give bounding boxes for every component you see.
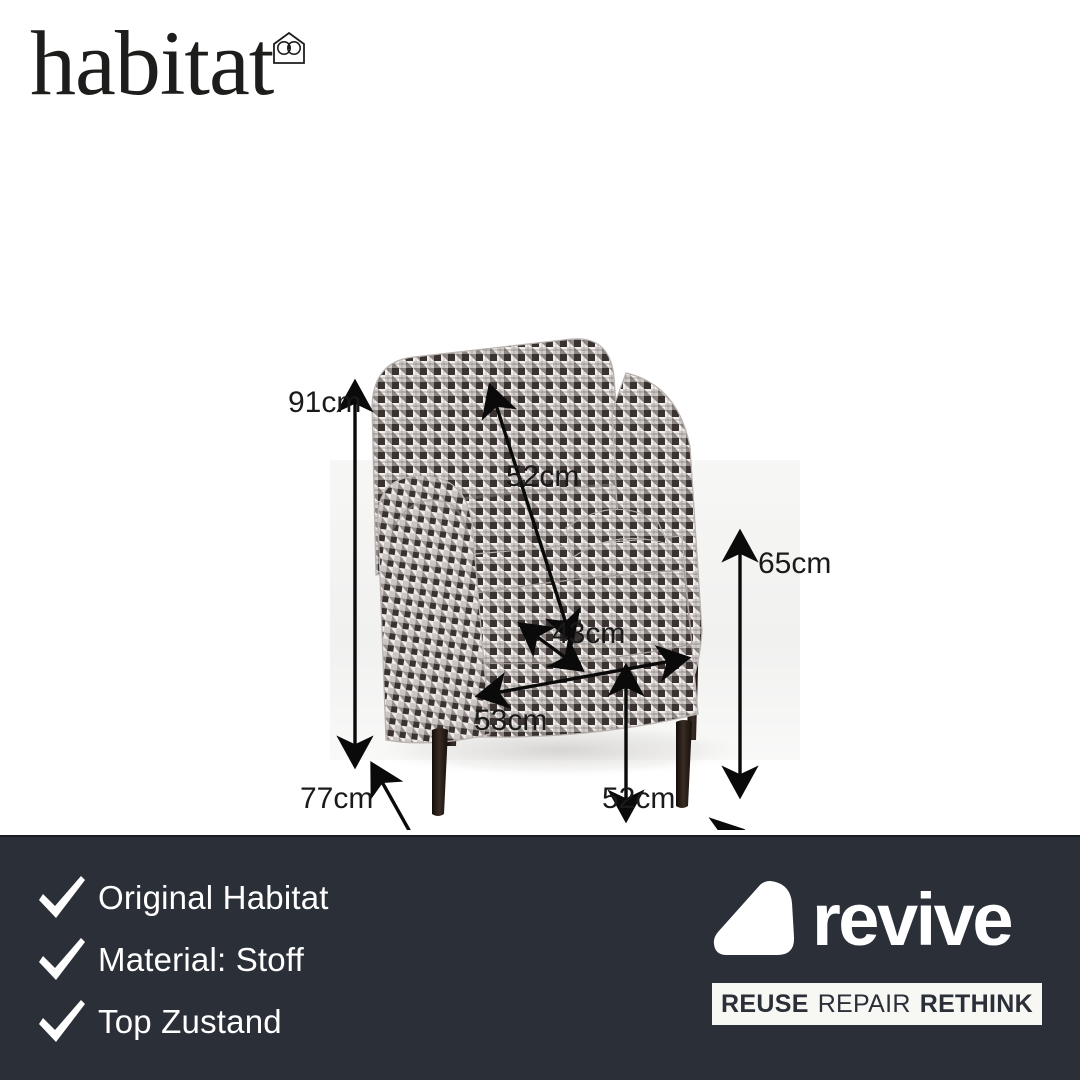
house-heart-icon <box>271 30 307 71</box>
feature-item: Material: Stoff <box>26 933 329 987</box>
feature-label: Top Zustand <box>98 1003 282 1041</box>
tagline-word-rethink: RETHINK <box>920 990 1033 1019</box>
revive-tagline: REUSE REPAIR RETHINK <box>712 983 1042 1025</box>
brand-logo: habitat <box>30 18 307 108</box>
dimension-label-seat-depth: 43cm <box>552 617 625 650</box>
footer-divider <box>0 835 1080 837</box>
dimension-label-back-height: 52cm <box>506 460 579 493</box>
revive-wordmark: revive <box>812 883 1011 957</box>
dimension-label-seat-width: 53cm <box>474 704 547 737</box>
product-image-canvas: habitat <box>0 0 1080 1080</box>
check-icon <box>26 998 98 1046</box>
check-icon <box>26 874 98 922</box>
dimension-label-arm-height: 65cm <box>758 547 831 580</box>
feature-item: Original Habitat <box>26 871 329 925</box>
footer-bar: Original Habitat Material: Stoff Top Zus… <box>0 835 1080 1080</box>
feature-list: Original Habitat Material: Stoff Top Zus… <box>26 871 329 1049</box>
tagline-word-repair: REPAIR <box>818 990 911 1019</box>
revive-logo: revive REUSE REPAIR RETHINK <box>712 877 1042 1025</box>
feature-label: Original Habitat <box>98 879 329 917</box>
revive-leaf-icon <box>712 875 798 966</box>
check-icon <box>26 936 98 984</box>
feature-item: Top Zustand <box>26 995 329 1049</box>
tagline-word-reuse: REUSE <box>721 990 809 1019</box>
feature-label: Material: Stoff <box>98 941 304 979</box>
brand-wordmark: habitat <box>30 18 273 108</box>
product-photo: 91cm 52cm 65cm 43cm 53cm 77cm 52cm 71cm <box>0 130 1080 830</box>
dimension-label-height: 91cm <box>288 386 361 419</box>
dimension-label-depth: 77cm <box>300 782 373 815</box>
dimension-label-seat-height: 52cm <box>602 782 675 815</box>
